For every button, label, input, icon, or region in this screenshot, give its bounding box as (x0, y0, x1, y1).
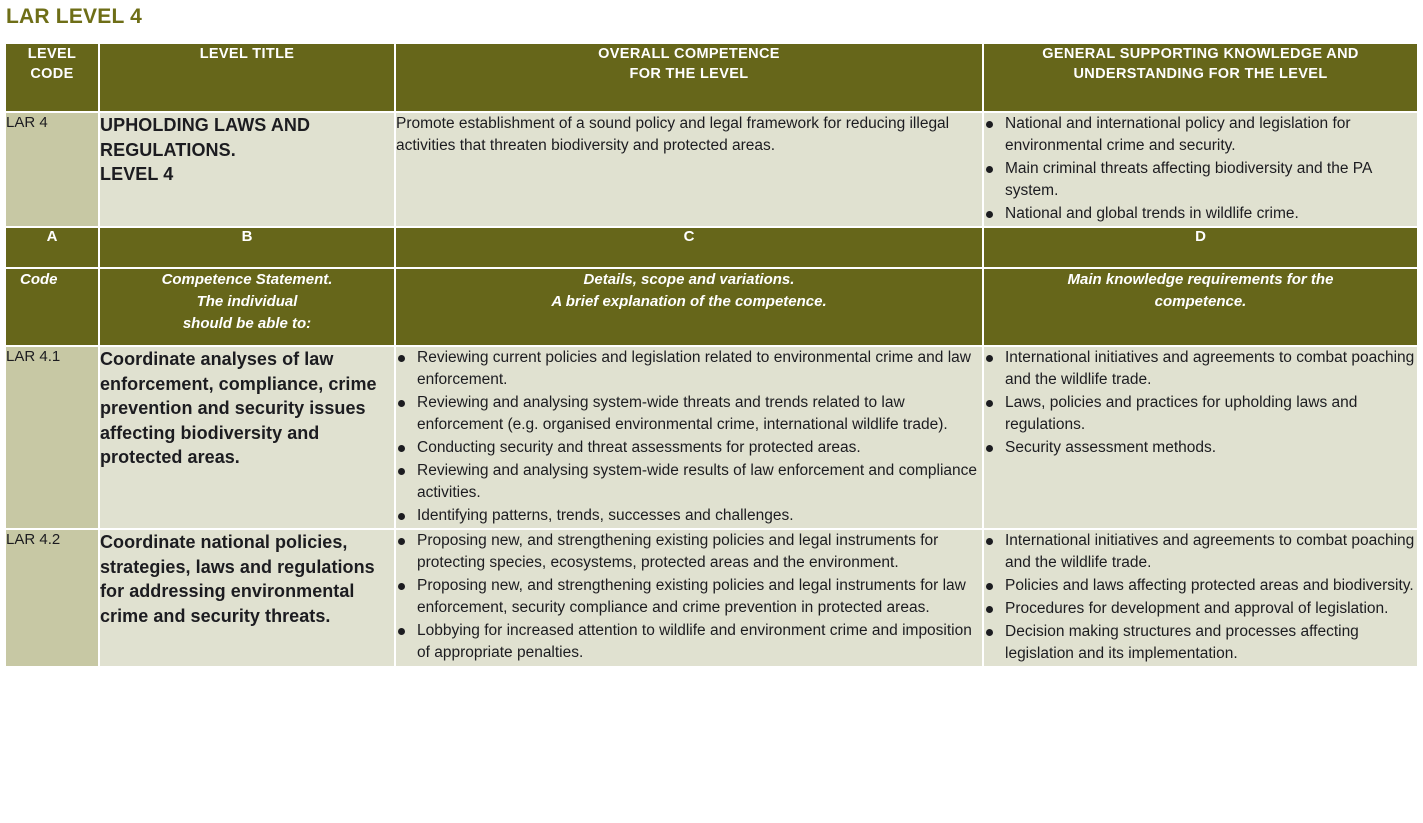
column-letter-row: A B C D (6, 228, 1417, 269)
level-summary-row: LAR 4 UPHOLDING LAWS AND REGULATIONS. LE… (6, 113, 1417, 228)
header-cell-level-title: LEVEL TITLE (100, 44, 396, 113)
level-title-line3: LEVEL 4 (100, 162, 394, 187)
list-item: Reviewing and analysing system-wide resu… (396, 460, 982, 504)
competence-statement-cell: Coordinate national policies, strategies… (100, 530, 396, 666)
column-description-c: Details, scope and variations. A brief e… (396, 269, 984, 347)
header-overall-competence-line2: FOR THE LEVEL (396, 64, 982, 84)
header-level-code-line2: CODE (6, 64, 98, 84)
list-item: Proposing new, and strengthening existin… (396, 575, 982, 619)
column-letter-c: C (396, 228, 984, 269)
list-item: National and global trends in wildlife c… (984, 203, 1417, 225)
level-title-line1: UPHOLDING LAWS AND (100, 113, 394, 138)
level-title-line2: REGULATIONS. (100, 138, 394, 163)
table-header-row: LEVEL CODE LEVEL TITLE OVERALL COMPETENC… (6, 44, 1417, 113)
list-item: Laws, policies and practices for upholdi… (984, 392, 1417, 436)
level-supporting-knowledge-cell: National and international policy and le… (984, 113, 1417, 228)
list-item: International initiatives and agreements… (984, 347, 1417, 391)
competence-details-cell: Proposing new, and strengthening existin… (396, 530, 984, 666)
header-supporting-knowledge-line1: GENERAL SUPPORTING KNOWLEDGE AND (984, 44, 1417, 64)
header-overall-competence-line1: OVERALL COMPETENCE (396, 44, 982, 64)
column-description-row: Code Competence Statement. The individua… (6, 269, 1417, 347)
level-code-cell: LAR 4 (6, 113, 100, 228)
competence-knowledge-list: International initiatives and agreements… (984, 347, 1417, 459)
page-root: LAR LEVEL 4 LEVEL CODE LEVEL TITLE OVERA… (0, 0, 1423, 823)
competence-code-text: LAR 4.2 (6, 531, 60, 548)
column-description-a: Code (6, 269, 100, 347)
level-supporting-knowledge-list: National and international policy and le… (984, 113, 1417, 225)
list-item: Security assessment methods. (984, 437, 1417, 459)
competence-code-cell: LAR 4.2 (6, 530, 100, 666)
list-item: National and international policy and le… (984, 113, 1417, 157)
list-item: Conducting security and threat assessmen… (396, 437, 982, 459)
competence-code-text: LAR 4.1 (6, 348, 60, 365)
column-description-b-line1: Competence Statement. (100, 269, 394, 291)
column-description-a-text: Code (20, 269, 98, 291)
competence-details-list: Reviewing current policies and legislati… (396, 347, 982, 527)
list-item: International initiatives and agreements… (984, 530, 1417, 574)
list-item: Policies and laws affecting protected ar… (984, 575, 1417, 597)
column-letter-d: D (984, 228, 1417, 269)
competence-knowledge-cell: International initiatives and agreements… (984, 347, 1417, 530)
column-description-b-line3: should be able to: (100, 313, 394, 335)
list-item: Reviewing and analysing system-wide thre… (396, 392, 982, 436)
level-code-text: LAR 4 (6, 114, 48, 131)
list-item: Decision making structures and processes… (984, 621, 1417, 665)
column-letter-b: B (100, 228, 396, 269)
list-item: Reviewing current policies and legislati… (396, 347, 982, 391)
list-item: Procedures for development and approval … (984, 598, 1417, 620)
competence-details-list: Proposing new, and strengthening existin… (396, 530, 982, 664)
column-description-b-line2: The individual (100, 291, 394, 313)
header-cell-overall-competence: OVERALL COMPETENCE FOR THE LEVEL (396, 44, 984, 113)
list-item: Proposing new, and strengthening existin… (396, 530, 982, 574)
level-title-cell: UPHOLDING LAWS AND REGULATIONS. LEVEL 4 (100, 113, 396, 228)
header-cell-supporting-knowledge: GENERAL SUPPORTING KNOWLEDGE AND UNDERST… (984, 44, 1417, 113)
header-level-title-text: LEVEL TITLE (100, 44, 394, 64)
column-description-d-line2: competence. (984, 291, 1417, 313)
list-item: Lobbying for increased attention to wild… (396, 620, 982, 664)
column-letter-a: A (6, 228, 100, 269)
competence-knowledge-list: International initiatives and agreements… (984, 530, 1417, 665)
competence-details-cell: Reviewing current policies and legislati… (396, 347, 984, 530)
competence-row: LAR 4.1 Coordinate analyses of law enfor… (6, 347, 1417, 530)
competence-code-cell: LAR 4.1 (6, 347, 100, 530)
column-description-c-line2: A brief explanation of the competence. (396, 291, 982, 313)
competence-framework-table: LEVEL CODE LEVEL TITLE OVERALL COMPETENC… (6, 44, 1417, 666)
competence-statement-cell: Coordinate analyses of law enforcement, … (100, 347, 396, 530)
column-description-c-line1: Details, scope and variations. (396, 269, 982, 291)
level-overall-competence-cell: Promote establishment of a sound policy … (396, 113, 984, 228)
column-description-d-line1: Main knowledge requirements for the (984, 269, 1417, 291)
level-overall-competence-text: Promote establishment of a sound policy … (396, 113, 982, 157)
competence-row: LAR 4.2 Coordinate national policies, st… (6, 530, 1417, 666)
header-cell-level-code: LEVEL CODE (6, 44, 100, 113)
competence-knowledge-cell: International initiatives and agreements… (984, 530, 1417, 666)
header-supporting-knowledge-line2: UNDERSTANDING FOR THE LEVEL (984, 64, 1417, 84)
column-description-b: Competence Statement. The individual sho… (100, 269, 396, 347)
list-item: Identifying patterns, trends, successes … (396, 505, 982, 527)
column-description-d: Main knowledge requirements for the comp… (984, 269, 1417, 347)
page-title: LAR LEVEL 4 (6, 3, 142, 31)
list-item: Main criminal threats affecting biodiver… (984, 158, 1417, 202)
header-level-code-line1: LEVEL (6, 44, 98, 64)
